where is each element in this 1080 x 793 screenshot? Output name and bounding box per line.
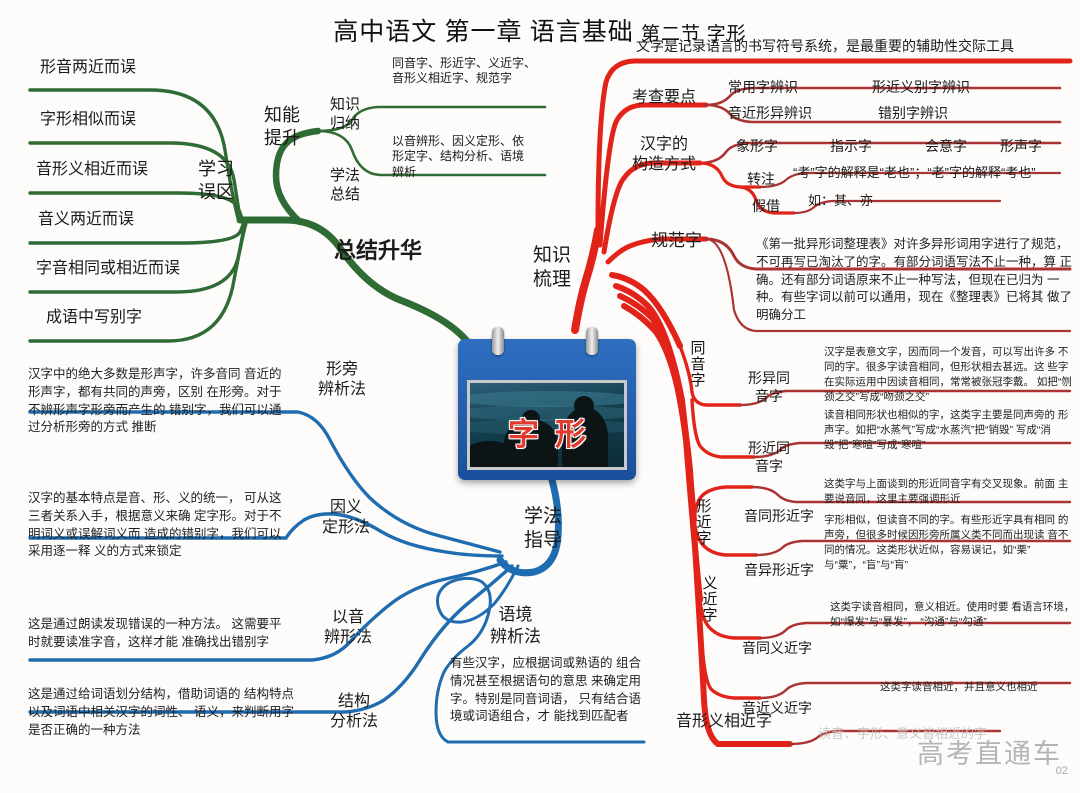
exam-point-2: 音近形异辨识 xyxy=(728,105,812,123)
structure-type-1: 指示字 xyxy=(830,138,872,156)
exam-points-label: 考查要点 xyxy=(632,88,696,108)
knowledge-summary-detail: 同音字、形近字、义近字、 音形义相近字、规范字 xyxy=(392,56,536,87)
method-2-detail: 这是通过朗读发现错误的一种方法。 这需要平时就要读准字音，这样才能 准确找出错别… xyxy=(28,616,290,652)
error-item-3: 音义两近而误 xyxy=(38,210,134,230)
top-statement: 文字是记录语言的书写符号系统，是最重要的辅助性交际工具 xyxy=(636,38,1014,56)
similar-shape-child-0-detail: 这类字与上面谈到的形近同音字有交叉现象。前面 主要说音同，这里主要强调形近 xyxy=(824,477,1078,507)
similar-shape-child-0-label: 音同形近字 xyxy=(744,508,814,526)
calendar-body: 字形 xyxy=(458,339,636,480)
watermark-brand: 高考直通车 xyxy=(917,732,1062,771)
knowledge-review-label: 知识 梳理 xyxy=(533,244,571,293)
ability-label: 知能 提升 xyxy=(264,104,300,150)
error-item-0: 形音两近而误 xyxy=(40,58,136,78)
structure-sub-0-label: 转注 xyxy=(747,171,775,189)
study-errors-label: 学习 误区 xyxy=(198,158,234,204)
structure-type-2: 会意字 xyxy=(925,138,967,156)
error-item-5: 成语中写别字 xyxy=(46,308,142,328)
method-1-detail: 汉字的基本特点是音、形、义的统一， 可从这三者关系入手，根据意义来确 定字形。对… xyxy=(28,490,290,561)
similar-meaning-label: 义近字 xyxy=(700,575,717,623)
structure-type-0: 象形字 xyxy=(736,138,778,156)
homophone-child-1-detail: 读音相同形状也相似的字，这类字主要是同声旁的 形声字。如把“水蒸气”写成“水蒸汽… xyxy=(824,408,1078,453)
error-item-4: 字音相同或相近而误 xyxy=(36,259,180,279)
homophone-child-1-label: 形近同 音字 xyxy=(748,440,790,476)
structure-label: 汉字的 构造方式 xyxy=(632,135,696,176)
mindmap-canvas: 高中语文 第一章 语言基础 第二节 字形 xyxy=(0,0,1080,793)
standard-chars-label: 规范字 xyxy=(651,230,702,252)
homophone-label: 同音字 xyxy=(688,340,705,388)
similar-shape-label: 形近字 xyxy=(694,498,711,546)
watermark-page-number: 02 xyxy=(1056,765,1068,777)
calendar-ring-left xyxy=(492,327,504,355)
similar-meaning-child-0-label: 音同义近字 xyxy=(742,640,812,658)
similar-meaning-child-1-detail: 这类字读音相近，并且意义也相近 xyxy=(880,680,1080,695)
method-4-label: 语境 辨析法 xyxy=(490,604,541,648)
method-0-detail: 汉字中的绝大多数是形声字，许多音同 音近的形声字，都有共同的声旁，区别 在形旁。… xyxy=(28,366,290,437)
structure-sub-1-detail: 如：其、亦 xyxy=(808,193,873,210)
method-0-label: 形旁 辨析法 xyxy=(318,360,366,401)
homophone-child-0-detail: 汉字是表意文字，因而同一个发音，可以写出许多 不同的字。很多字读音相同，但形状相… xyxy=(824,345,1078,405)
central-node-text: 字形 xyxy=(470,409,624,454)
homophone-child-0-label: 形异同 音字 xyxy=(748,370,790,406)
all-similar-label: 音形义相近字 xyxy=(676,712,772,732)
central-node[interactable]: 字形 xyxy=(458,325,636,480)
calendar-ring-right xyxy=(586,327,598,355)
method-summary-detail: 以音辨形、因义定形、依 形定字、结构分析、语境 辨析 xyxy=(392,134,524,180)
calendar-screen: 字形 xyxy=(467,380,627,470)
method-4-detail: 有些汉字，应根据词或熟语的 组合情况甚至根据语句的意思 来确定用字。特别是同音词… xyxy=(450,655,646,726)
method-guidance-label: 学法 指导 xyxy=(524,505,562,554)
standard-chars-detail: 《第一批异形词整理表》对许多异形词用字进行了规范， 不可再写已淘汰了的字。有部分… xyxy=(756,236,1076,325)
exam-point-3: 错别字辨识 xyxy=(878,105,948,123)
method-1-label: 因义 定形法 xyxy=(322,498,370,539)
similar-shape-child-1-label: 音异形近字 xyxy=(744,562,814,580)
structure-sub-1-label: 假借 xyxy=(752,198,780,216)
page-title-main: 高中语文 第一章 语言基础 xyxy=(333,19,634,46)
method-2-label: 以音 辨形法 xyxy=(324,608,372,649)
similar-shape-child-1-detail: 字形相似，但读音不同的字。有些形近字具有相同 的声旁，但很多时候因形旁所属义类不… xyxy=(824,513,1078,573)
exam-point-0: 常用字辨识 xyxy=(728,79,798,97)
error-item-2: 音形义相近而误 xyxy=(36,160,148,180)
knowledge-summary-label: 知识 归纳 xyxy=(330,95,360,133)
structure-type-3: 形声字 xyxy=(1000,138,1042,156)
method-summary-label: 学法 总结 xyxy=(330,166,360,204)
structure-sub-0-detail: “考”字的解释是“老也”；“老”字的解释“考也” xyxy=(793,165,1036,182)
summary-elevation-label: 总结升华 xyxy=(334,237,422,265)
similar-meaning-child-0-detail: 这类字读音相同，意义相近。使用时要 看语言环境，如“爆发”与“暴发”， “沟通”… xyxy=(830,600,1080,630)
error-item-1: 字形相似而误 xyxy=(40,110,136,130)
exam-point-1: 形近义别字辨识 xyxy=(872,79,970,97)
method-3-label: 结构 分析法 xyxy=(330,692,378,733)
method-3-detail: 这是通过给词语划分结构，借助词语的 结构特点以及词语中相关汉字的词性、 语义，来… xyxy=(28,686,296,739)
